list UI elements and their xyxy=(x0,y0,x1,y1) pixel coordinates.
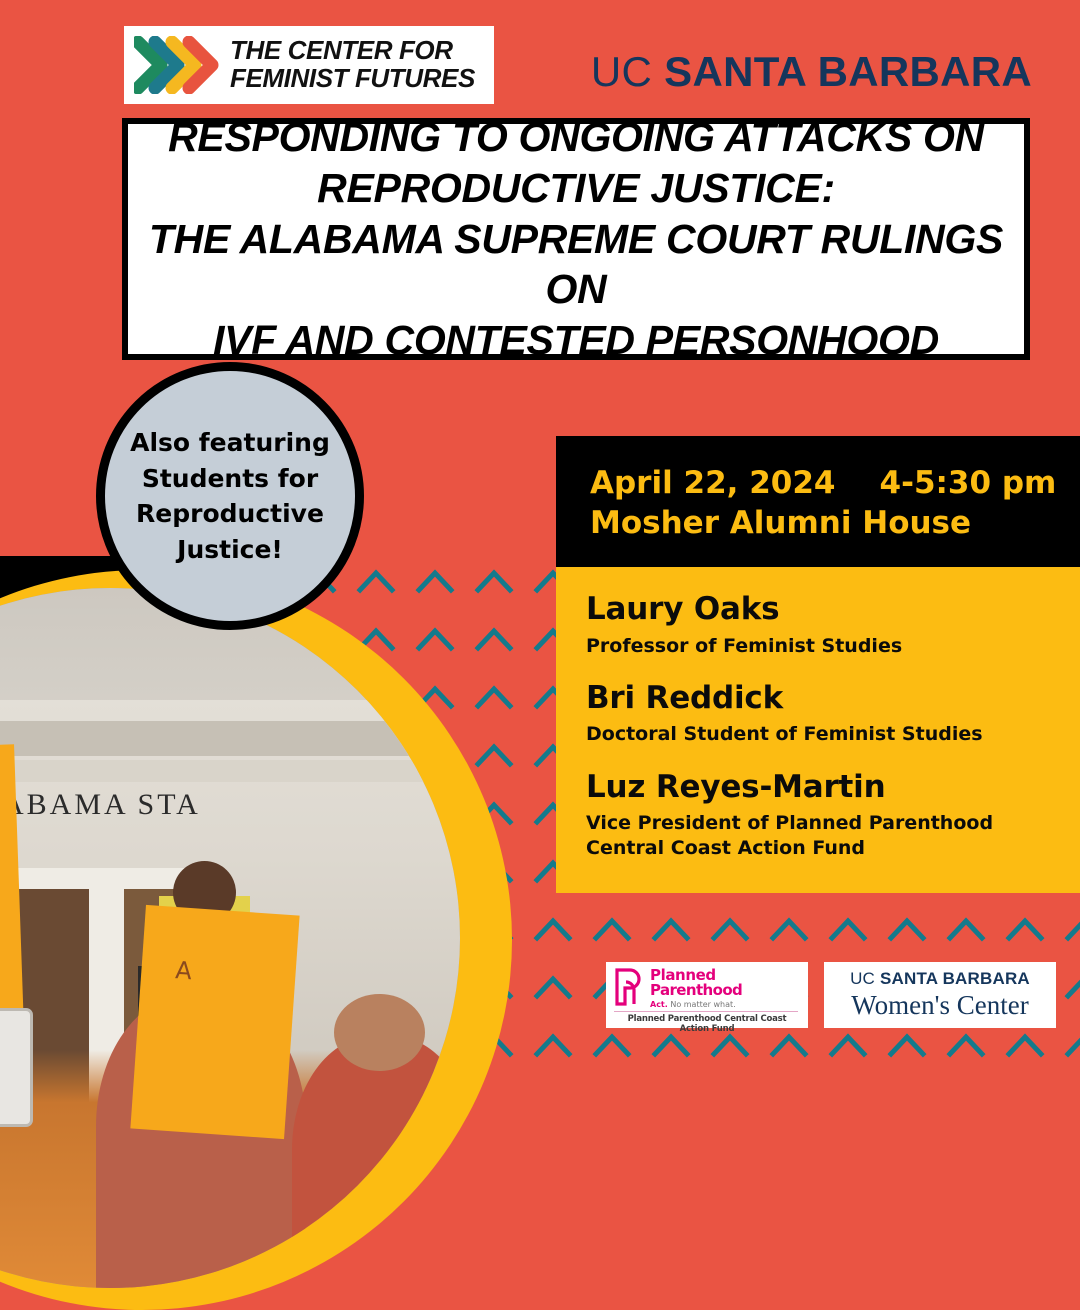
second-protest-sign: A xyxy=(130,905,299,1139)
center-name: THE CENTER FOR FEMINIST FUTURES xyxy=(230,37,475,92)
center-for-feminist-futures-logo: THE CENTER FOR FEMINIST FUTURES xyxy=(124,26,494,104)
speaker-item: Bri Reddick Doctoral Student of Feminist… xyxy=(586,680,1050,747)
ucsb-santa-barbara: SANTA BARBARA xyxy=(664,48,1032,95)
planned-parenthood-logo: Planned Parenthood Act. No matter what. … xyxy=(606,962,808,1028)
title-line-1: RESPONDING TO ONGOING ATTACKS ON xyxy=(168,114,984,160)
speaker-title: Professor of Feminist Studies xyxy=(586,634,1050,659)
speaker-item: Laury Oaks Professor of Feminist Studies xyxy=(586,591,1050,658)
badge-line-1: Also featuring xyxy=(130,428,330,457)
also-featuring-badge: Also featuring Students for Reproductive… xyxy=(96,362,364,630)
speaker-title: Vice President of Planned Parenthood Cen… xyxy=(586,811,1050,860)
wc-ucsb-line: UC SANTA BARBARA xyxy=(850,969,1030,989)
date-time-row: April 22, 2024 4-5:30 pm xyxy=(590,464,1046,504)
ucsb-uc: UC xyxy=(591,48,652,95)
protest-photo: ALABAMA STA A YOU Can't Cuddle an embryo xyxy=(0,588,460,1288)
speaker-name: Laury Oaks xyxy=(586,591,1050,628)
speaker-title: Doctoral Student of Feminist Studies xyxy=(586,722,1050,747)
event-title-box: RESPONDING TO ONGOING ATTACKS ON REPRODU… xyxy=(122,118,1030,360)
chevron-logo-icon xyxy=(134,36,220,94)
badge-line-3: Reproductive xyxy=(136,499,324,528)
pp-divider xyxy=(614,1011,798,1012)
building-sign-text: ALABAMA STA xyxy=(0,788,201,822)
badge-line-4: Justice! xyxy=(177,535,283,564)
pp-tagline-rest: No matter what. xyxy=(668,1000,736,1009)
badge-line-2: Students for xyxy=(142,464,318,493)
ucsb-wordmark: UC SANTA BARBARA xyxy=(591,48,1032,96)
pp-tagline-bold: Act. xyxy=(650,1000,668,1009)
event-venue: Mosher Alumni House xyxy=(590,504,1046,544)
speaker-name: Bri Reddick xyxy=(586,680,1050,717)
title-line-3: THE ALABAMA SUPREME COURT RULINGS ON xyxy=(149,216,1003,313)
second-sign-text: A xyxy=(174,956,192,985)
badge-text: Also featuring Students for Reproductive… xyxy=(130,425,330,567)
ucsb-womens-center-logo: UC SANTA BARBARA Women's Center xyxy=(824,962,1056,1028)
pp-affiliate-name: Planned Parenthood Central Coast Action … xyxy=(614,1014,800,1034)
page-title: RESPONDING TO ONGOING ATTACKS ON REPRODU… xyxy=(128,112,1024,366)
date-time-venue-box: April 22, 2024 4-5:30 pm Mosher Alumni H… xyxy=(556,436,1080,567)
event-date: April 22, 2024 xyxy=(590,464,836,504)
pp-word-parenthood: Parenthood xyxy=(650,983,742,999)
wc-uc: UC xyxy=(850,969,875,988)
wc-name: Women's Center xyxy=(851,990,1028,1021)
wc-santa-barbara: SANTA BARBARA xyxy=(880,969,1030,988)
event-time: 4-5:30 pm xyxy=(880,464,1057,504)
speakers-box: Laury Oaks Professor of Feminist Studies… xyxy=(556,567,1080,892)
speaker-title-line-1: Vice President of Planned Parenthood xyxy=(586,812,993,834)
title-line-2: REPRODUCTIVE JUSTICE: xyxy=(317,165,835,211)
pp-tagline: Act. No matter what. xyxy=(650,1000,742,1009)
speaker-name: Luz Reyes-Martin xyxy=(586,769,1050,806)
speaker-item: Luz Reyes-Martin Vice President of Plann… xyxy=(586,769,1050,861)
event-details-column: April 22, 2024 4-5:30 pm Mosher Alumni H… xyxy=(556,436,1080,893)
planned-parenthood-icon xyxy=(614,968,644,1006)
title-line-4: IVF AND CONTESTED PERSONHOOD xyxy=(213,317,939,363)
speaker-title-line-2: Central Coast Action Fund xyxy=(586,837,865,859)
